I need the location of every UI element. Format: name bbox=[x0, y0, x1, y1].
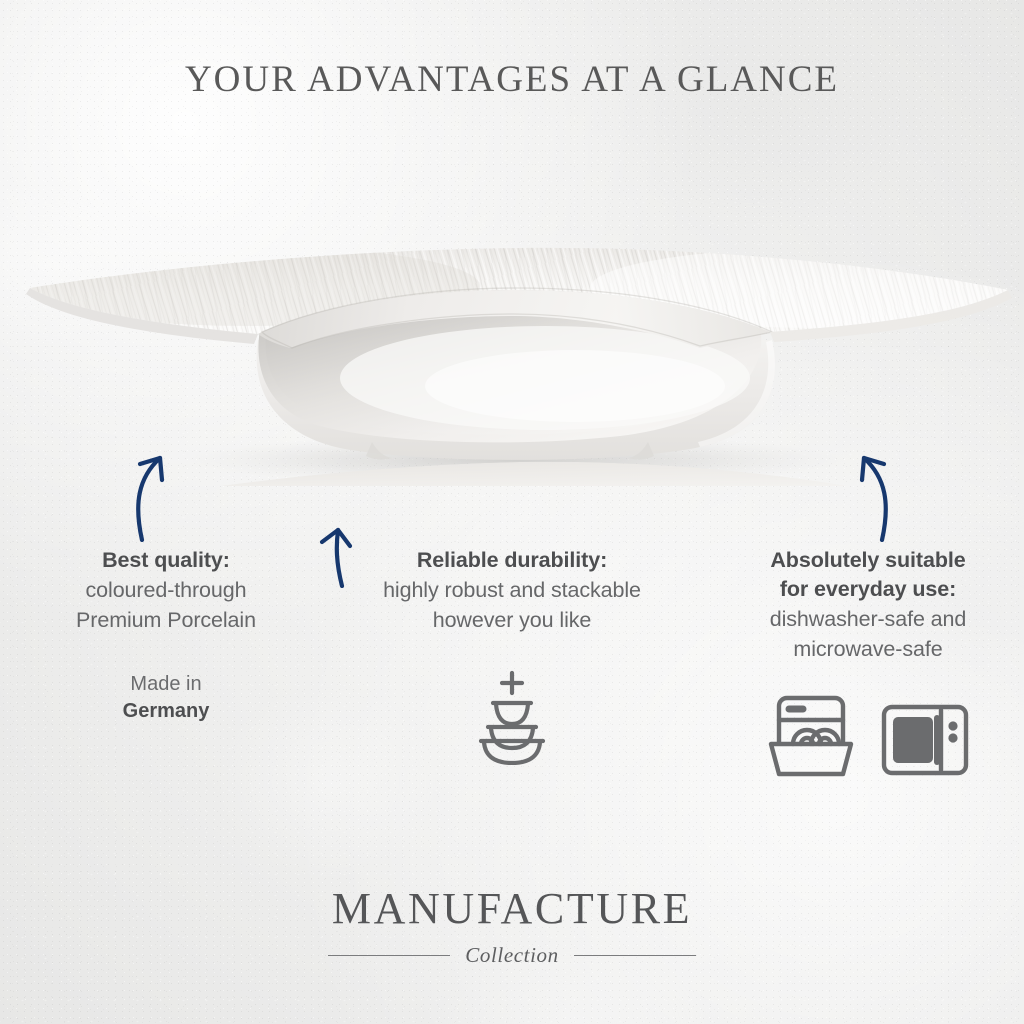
made-in-block: Made in Germany bbox=[18, 671, 314, 725]
brand-rule-left bbox=[328, 955, 450, 956]
column-title-line-1: Absolutely suitable bbox=[722, 546, 1014, 575]
advantage-column-best-quality: Best quality: coloured-through Premium P… bbox=[18, 546, 314, 725]
product-advantages-infographic: YOUR ADVANTAGES AT A GLANCE bbox=[0, 0, 1024, 1024]
column-body-line-1: dishwasher-safe and bbox=[722, 604, 1014, 634]
brand-name: MANUFACTURE bbox=[0, 884, 1024, 934]
brand-subtitle: Collection bbox=[0, 943, 1024, 968]
arrow-to-plate-left bbox=[118, 432, 198, 547]
page-title: YOUR ADVANTAGES AT A GLANCE bbox=[0, 58, 1024, 101]
icon-row-everyday-use bbox=[722, 690, 1014, 783]
brand-rule-right bbox=[574, 955, 696, 956]
brand-logo: MANUFACTURE Collection bbox=[0, 884, 1024, 968]
made-in-country: Germany bbox=[123, 700, 210, 722]
advantages-columns: Best quality: coloured-through Premium P… bbox=[0, 546, 1024, 846]
arrow-to-plate-right bbox=[828, 432, 908, 547]
column-body-line-1: coloured-through bbox=[18, 575, 314, 605]
column-title-line-2: for everyday use: bbox=[722, 575, 1014, 604]
icon-row-durability bbox=[352, 667, 672, 770]
advantage-column-everyday-use: Absolutely suitable for everyday use: di… bbox=[722, 546, 1014, 783]
column-body-line-2: Premium Porcelain bbox=[18, 605, 314, 635]
brand-collection-label: Collection bbox=[465, 943, 559, 968]
column-title: Best quality: bbox=[18, 546, 314, 575]
column-body-line-2: however you like bbox=[352, 605, 672, 635]
column-body-line-1: highly robust and stackable bbox=[352, 575, 672, 605]
column-title: Reliable durability: bbox=[352, 546, 672, 575]
advantage-column-reliable-durability: Reliable durability: highly robust and s… bbox=[352, 546, 672, 770]
made-in-prefix: Made in bbox=[18, 671, 314, 698]
dishwasher-icon bbox=[765, 690, 857, 783]
microwave-icon bbox=[879, 702, 971, 783]
stackable-bowls-icon bbox=[469, 667, 555, 770]
column-body-line-2: microwave-safe bbox=[722, 634, 1014, 664]
